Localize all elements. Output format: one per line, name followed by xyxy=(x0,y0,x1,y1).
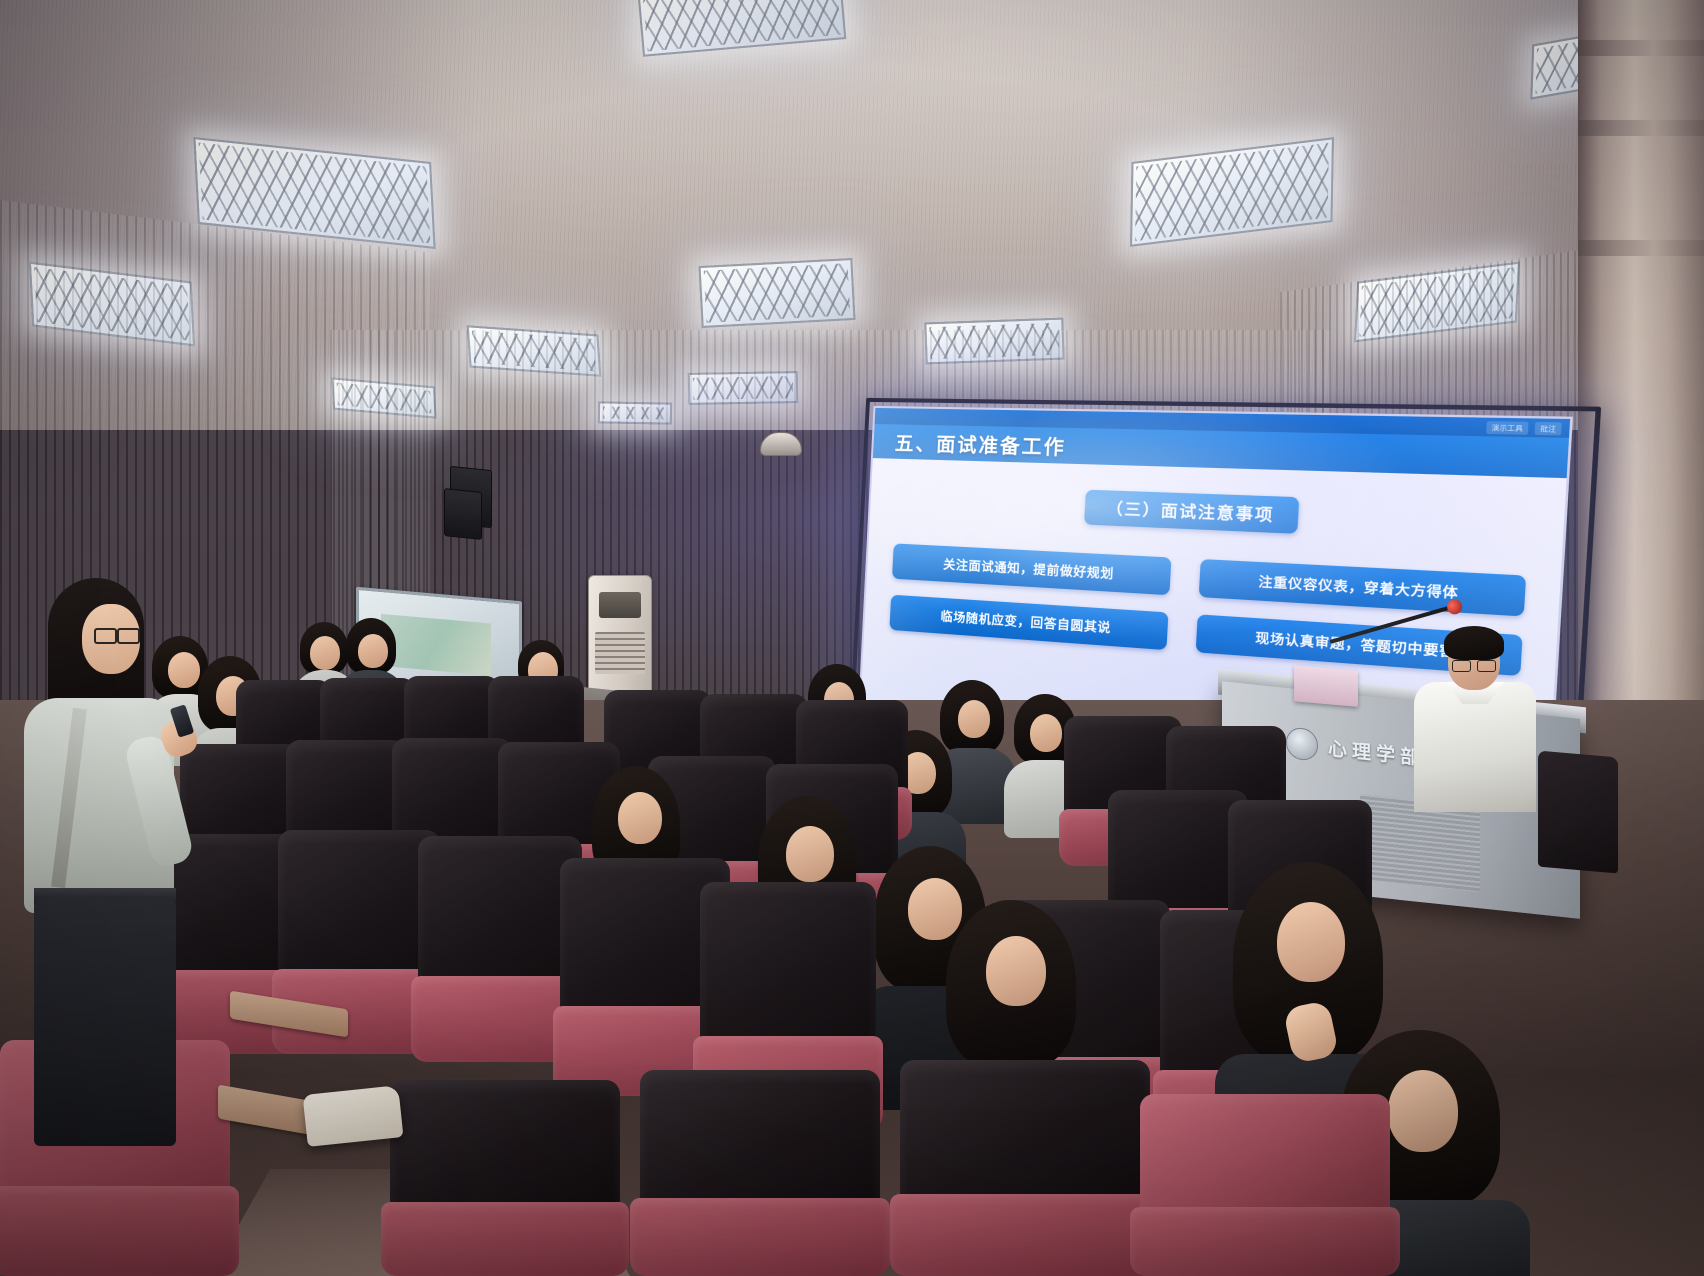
seat[interactable] xyxy=(1140,1094,1390,1276)
glasses-icon xyxy=(94,628,140,640)
ac-display-panel xyxy=(599,592,641,618)
ceiling-light-icon xyxy=(698,258,855,328)
slide-points-grid: 关注面试通知，提前做好规划 注重仪容仪表，穿着大方得体 临场随机应变，回答自圆其… xyxy=(889,543,1526,676)
seat[interactable] xyxy=(640,1070,880,1276)
audience-person xyxy=(1288,1004,1348,1074)
podium-plate-text: 心理学部 xyxy=(1328,733,1424,770)
slide-tool-present[interactable]: 演示工具 xyxy=(1486,421,1529,435)
slide-point: 临场随机应变，回答自圆其说 xyxy=(889,595,1168,650)
slide-point: 关注面试通知，提前做好规划 xyxy=(892,543,1171,595)
seat[interactable] xyxy=(390,1080,620,1276)
dome-camera-icon xyxy=(760,432,802,456)
slide-section-pill: （三）面试注意事项 xyxy=(1084,490,1299,534)
slide-tool-annotate[interactable]: 批注 xyxy=(1534,421,1561,434)
standing-attendee xyxy=(20,578,200,1238)
slide-point: 注重仪容仪表，穿着大方得体 xyxy=(1199,559,1526,616)
seat[interactable] xyxy=(900,1060,1150,1276)
speaker-glasses-icon xyxy=(1452,660,1496,670)
speaker-hair xyxy=(1444,626,1504,660)
floor-bag xyxy=(303,1085,404,1147)
ac-vent xyxy=(595,632,645,674)
university-logo-icon xyxy=(1286,726,1318,761)
standing-attendee-pants xyxy=(34,896,176,1146)
slide-header-text: 五、面试准备工作 xyxy=(894,428,1066,460)
wall-speaker xyxy=(444,488,482,540)
podium-name-card xyxy=(1294,665,1358,707)
lecture-hall-photo: 演示工具 批注 五、面试准备工作 （三）面试注意事项 关注面试通知，提前做好规划… xyxy=(0,0,1704,1276)
stage-chair xyxy=(1538,751,1618,874)
